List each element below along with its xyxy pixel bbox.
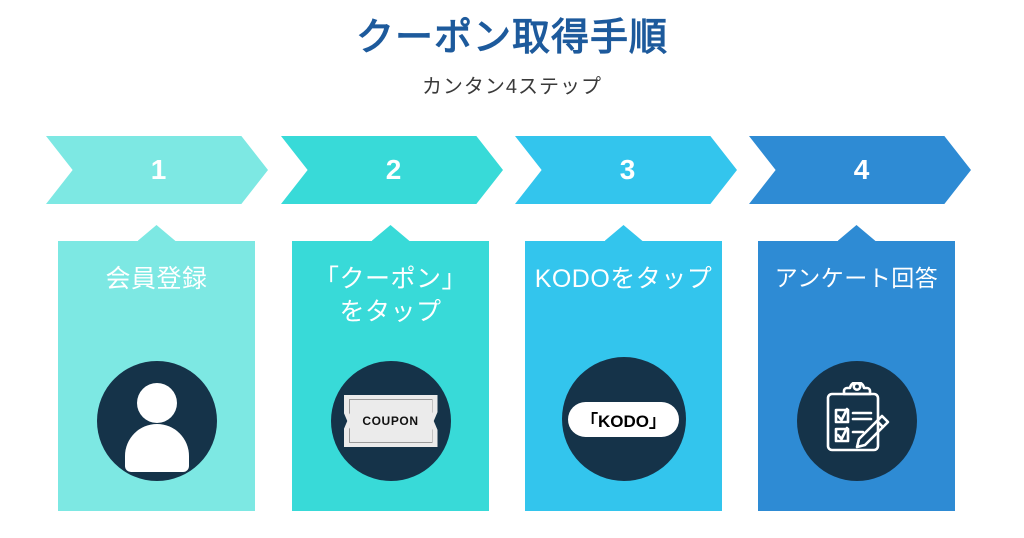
page-title: クーポン取得手順 <box>0 17 1024 61</box>
step-label-4: アンケート回答 <box>758 263 955 293</box>
kodo-pill-label: 「KODO」 <box>568 402 679 437</box>
card-pointer-tab-2 <box>372 225 410 241</box>
card-pointer-tab-1 <box>138 225 176 241</box>
page-subtitle: カンタン4ステップ <box>0 70 1024 99</box>
step-card-3[interactable]: KODOをタップ 「KODO」 <box>525 241 722 511</box>
person-body-shape <box>125 424 189 472</box>
ticket-shape: COUPON <box>344 395 438 447</box>
step-label-1: 会員登録 <box>58 263 255 296</box>
step-chevron-2: 2 <box>281 136 503 204</box>
step-chevron-3: 3 <box>515 136 737 204</box>
card-pointer-tab-4 <box>838 225 876 241</box>
clipboard-checklist-pencil-icon <box>797 361 917 481</box>
card-pointer-tab-3 <box>605 225 643 241</box>
ticket-label: COUPON <box>362 414 418 428</box>
step-card-4[interactable]: アンケート回答 <box>758 241 955 511</box>
person-icon <box>97 361 217 481</box>
step-card-1[interactable]: 会員登録 <box>58 241 255 511</box>
kodo-pill-icon: 「KODO」 <box>562 357 686 481</box>
step-chevron-1: 1 <box>46 136 268 204</box>
step-number-1: 1 <box>46 136 268 204</box>
step-number-3: 3 <box>515 136 737 204</box>
infographic-canvas: クーポン取得手順 カンタン4ステップ 1 会員登録 2 「クーポン」 をタップ … <box>0 0 1024 538</box>
step-number-4: 4 <box>749 136 971 204</box>
coupon-ticket-icon: COUPON <box>331 361 451 481</box>
clipboard-checklist-pencil-glyph <box>818 382 896 460</box>
step-label-2: 「クーポン」 をタップ <box>292 263 489 329</box>
person-head-shape <box>137 383 177 423</box>
step-number-2: 2 <box>281 136 503 204</box>
step-label-3: KODOをタップ <box>525 263 722 296</box>
step-chevron-4: 4 <box>749 136 971 204</box>
step-card-2[interactable]: 「クーポン」 をタップ COUPON <box>292 241 489 511</box>
